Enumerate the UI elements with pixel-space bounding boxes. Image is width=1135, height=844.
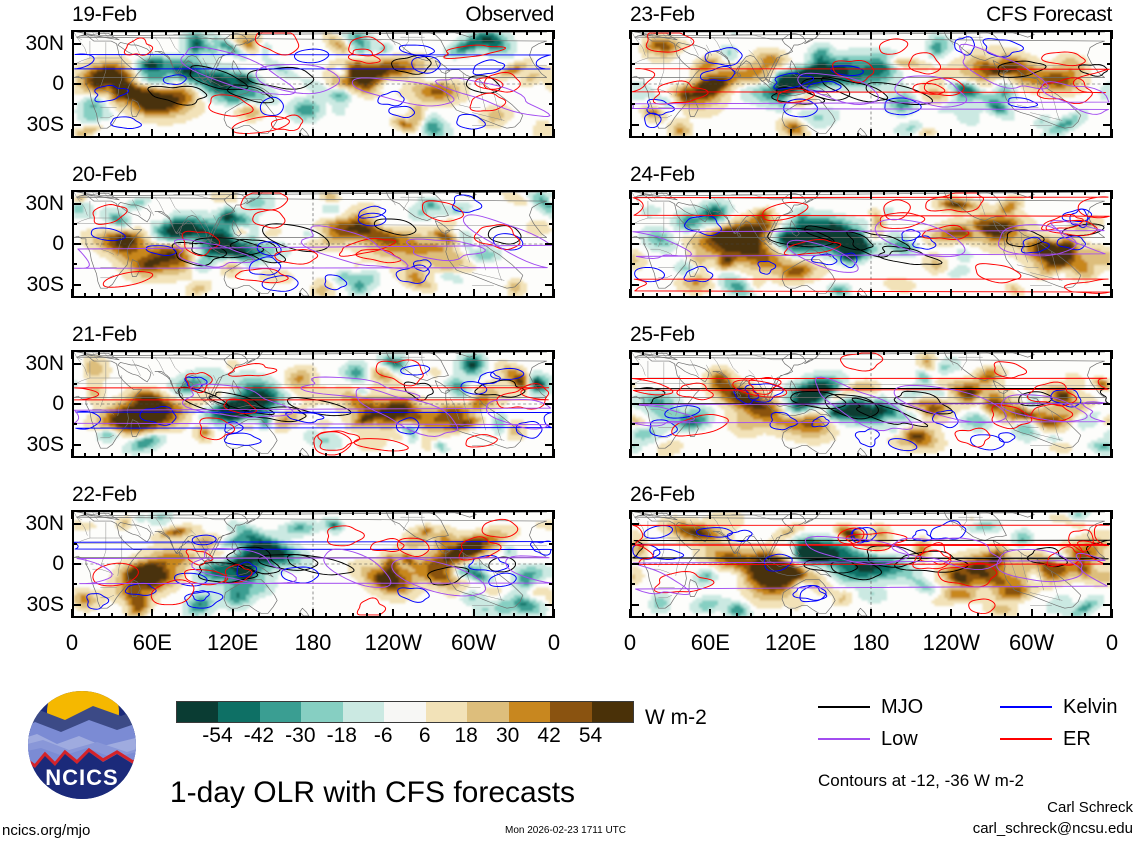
panel-24-feb: 24-Feb [630,164,1112,298]
x-tick [1084,453,1086,458]
x-tick [776,293,778,298]
x-tick [937,190,939,195]
y-tick [1103,444,1112,446]
x-tick [991,453,993,458]
x-tick [299,30,301,35]
x-tick [816,453,818,458]
x-tick [883,30,885,35]
x-tick [192,293,194,298]
y-tick [72,83,81,85]
x-tick [709,449,711,458]
x-tick [629,30,631,39]
colorbar-tick-label: -42 [244,725,274,746]
y-tick [72,124,81,126]
x-tick [843,453,845,458]
olr-anomaly-map [74,352,552,456]
y-tick [72,63,77,65]
x-tick [1057,350,1059,355]
x-tick [950,289,952,298]
x-tick [71,609,73,618]
y-tick [1103,403,1112,405]
x-tick [1111,289,1113,298]
contour-er [976,264,1021,283]
x-tick [285,453,287,458]
x-tick [803,133,805,138]
x-tick [830,453,832,458]
x-tick [763,350,765,355]
x-tick [513,613,515,618]
x-tick [513,453,515,458]
x-tick [392,449,394,458]
x-tick [419,190,421,195]
x-tick [138,453,140,458]
y-tick [72,403,81,405]
olr-anomaly-map [632,352,1110,456]
y-axis-label-30n: 30N [0,513,64,534]
x-tick [406,613,408,618]
x-tick [1098,133,1100,138]
x-tick [950,449,952,458]
x-tick [683,293,685,298]
panel-19-feb: 19-FebObserved [72,4,554,138]
x-tick [642,190,644,195]
x-tick [392,129,394,138]
panel-23-feb: 23-FebCFS Forecast [630,4,1112,138]
x-tick [165,613,167,618]
panel-date-label: 21-Feb [72,324,137,345]
x-tick [1071,30,1073,35]
x-tick [642,133,644,138]
x-tick [870,609,872,618]
colorbar-swatch [509,702,550,722]
x-tick [1017,510,1019,515]
x-tick [366,453,368,458]
x-tick [272,453,274,458]
x-tick [98,350,100,355]
x-tick [339,30,341,35]
x-tick [111,30,113,35]
x-tick [165,510,167,515]
y-tick [545,403,554,405]
x-tick [816,350,818,355]
olr-anomaly-map [74,192,552,296]
y-tick [72,43,81,45]
x-tick [897,30,899,35]
x-tick [218,293,220,298]
x-tick [1057,613,1059,618]
x-tick [111,190,113,195]
x-tick [897,133,899,138]
x-axis-label: 180 [853,632,890,654]
x-tick [406,133,408,138]
x-tick [272,293,274,298]
x-tick [339,293,341,298]
x-tick [299,613,301,618]
x-tick [991,350,993,355]
y-axis-label-30n: 30N [0,193,64,214]
x-tick [1084,510,1086,515]
x-tick [1057,190,1059,195]
x-tick [656,613,658,618]
x-tick [285,30,287,35]
x-tick [803,293,805,298]
x-tick [669,510,671,515]
x-tick [553,510,555,519]
x-tick [218,453,220,458]
colorbar-tick-label: -18 [327,725,357,746]
x-tick [84,350,86,355]
x-tick [258,30,260,35]
y-tick [630,604,639,606]
x-tick [339,350,341,355]
x-tick [709,190,711,199]
colorbar-swatch [426,702,467,722]
x-tick [71,449,73,458]
legend-label: ER [1063,729,1091,749]
x-tick [1004,190,1006,195]
x-tick [406,510,408,515]
x-tick [816,613,818,618]
x-tick [1017,190,1019,195]
x-tick [696,190,698,195]
x-tick [392,30,394,39]
x-tick [723,613,725,618]
x-tick [683,190,685,195]
x-tick [98,510,100,515]
x-tick [750,453,752,458]
x-tick [1084,190,1086,195]
y-tick [630,43,639,45]
x-tick [192,133,194,138]
y-tick [1103,284,1112,286]
x-tick [526,30,528,35]
x-tick [642,613,644,618]
x-tick [540,510,542,515]
x-tick [285,613,287,618]
y-tick [549,383,554,385]
x-tick [299,190,301,195]
legend-item-mjo: MJO [818,697,923,717]
x-tick [419,510,421,515]
x-tick [1084,613,1086,618]
x-tick [232,449,234,458]
x-tick [178,133,180,138]
x-tick [1098,30,1100,35]
x-tick [232,190,234,199]
y-tick [545,284,554,286]
x-tick [1031,30,1033,39]
x-tick [192,453,194,458]
x-tick [446,30,448,35]
colorbar-swatch [218,702,259,722]
panel-21-feb: 21-Feb [72,324,554,458]
y-tick [1107,383,1112,385]
map-frame [630,510,1112,618]
x-tick [205,613,207,618]
colorbar-tick-label: -30 [285,725,315,746]
x-tick [683,510,685,515]
x-tick [352,350,354,355]
y-axis-label-30s: 30S [0,114,64,135]
y-tick [72,423,77,425]
x-tick [84,453,86,458]
x-tick [857,133,859,138]
x-tick [897,190,899,195]
x-tick [870,129,872,138]
y-tick [72,203,81,205]
x-tick [870,449,872,458]
y-tick [549,543,554,545]
x-tick [165,350,167,355]
x-tick [763,613,765,618]
x-tick [1098,510,1100,515]
y-tick [1103,83,1112,85]
column-kind-label: CFS Forecast [986,4,1112,25]
x-tick [419,350,421,355]
x-tick [669,190,671,195]
x-tick [669,613,671,618]
x-tick [683,350,685,355]
x-tick [125,30,127,35]
x-tick [366,613,368,618]
site-url[interactable]: ncics.org/mjo [2,823,90,838]
legend-item-low: Low [818,729,918,749]
panel-26-feb: 26-Feb [630,484,1112,618]
column-kind-label: Observed [465,4,554,25]
map-frame [72,510,554,618]
x-tick [790,30,792,39]
x-tick [151,289,153,298]
contour-kelvin [225,433,262,445]
x-tick [245,350,247,355]
x-tick [513,510,515,515]
x-tick [1017,133,1019,138]
x-tick [98,190,100,195]
x-tick [1098,293,1100,298]
x-tick [790,449,792,458]
x-tick [232,510,234,519]
x-tick [299,293,301,298]
y-tick [545,43,554,45]
x-tick [1111,449,1113,458]
x-tick [232,609,234,618]
x-tick [352,133,354,138]
x-tick [1111,30,1113,39]
y-tick [1107,263,1112,265]
x-tick [910,190,912,195]
x-tick [499,190,501,195]
x-tick [750,190,752,195]
y-tick [549,63,554,65]
x-tick [776,30,778,35]
colorbar-units-label: W m-2 [645,707,707,728]
x-tick [763,190,765,195]
x-tick [1111,129,1113,138]
x-tick [683,613,685,618]
x-tick [830,510,832,515]
x-tick [790,350,792,359]
x-tick [696,613,698,618]
x-tick [192,613,194,618]
x-tick [379,293,381,298]
x-tick [312,510,314,519]
x-tick [1017,30,1019,35]
x-tick [897,510,899,515]
panel-date-label: 23-Feb [630,4,695,25]
y-tick [545,124,554,126]
x-tick [629,190,631,199]
x-tick [111,133,113,138]
x-tick [459,133,461,138]
x-tick [71,350,73,359]
x-tick [723,453,725,458]
y-tick [1107,223,1112,225]
x-tick [696,453,698,458]
x-tick [245,510,247,515]
x-tick [379,30,381,35]
x-tick [803,453,805,458]
x-tick [339,613,341,618]
x-tick [218,133,220,138]
y-tick [545,444,554,446]
author-email[interactable]: carl_schreck@ncsu.edu [835,820,1133,838]
x-tick [245,453,247,458]
x-tick [656,510,658,515]
x-tick [776,133,778,138]
x-tick [84,510,86,515]
x-tick [125,510,127,515]
x-tick [473,609,475,618]
x-tick [218,613,220,618]
x-tick [138,350,140,355]
y-tick [630,383,635,385]
x-tick [553,609,555,618]
contour-er [840,353,882,371]
x-tick [991,30,993,35]
x-tick [950,510,952,519]
map-frame [72,30,554,138]
x-tick [419,613,421,618]
y-tick [630,444,639,446]
x-tick [138,510,140,515]
x-tick [178,453,180,458]
y-tick [630,423,635,425]
x-tick [125,613,127,618]
x-tick [1071,613,1073,618]
x-tick [709,609,711,618]
x-tick [736,350,738,355]
x-tick [803,613,805,618]
y-tick [545,563,554,565]
x-tick [125,190,127,195]
x-tick [843,133,845,138]
x-tick [977,613,979,618]
x-tick [857,453,859,458]
x-tick [446,613,448,618]
x-tick [526,510,528,515]
x-tick [84,30,86,35]
x-tick [629,609,631,618]
x-tick [312,350,314,359]
x-tick [151,350,153,359]
x-tick [352,293,354,298]
x-tick [526,613,528,618]
x-tick [669,350,671,355]
x-tick [125,133,127,138]
legend-line-swatch [818,738,870,740]
x-tick [499,30,501,35]
colorbar-tick-label: -6 [374,725,393,746]
x-tick [950,190,952,199]
x-tick [790,289,792,298]
x-tick [486,453,488,458]
x-tick [937,453,939,458]
x-tick [964,30,966,35]
x-tick [125,350,127,355]
x-tick [696,133,698,138]
x-tick [977,350,979,355]
y-tick [545,203,554,205]
x-tick [790,190,792,199]
x-tick [883,453,885,458]
colorbar-swatch [592,702,633,722]
y-axis-label-0: 0 [0,393,64,414]
x-tick [1031,449,1033,458]
x-tick [656,293,658,298]
x-tick [205,190,207,195]
x-tick [312,449,314,458]
x-tick [486,350,488,355]
x-tick [299,350,301,355]
colorbar-tick-label: 6 [419,725,431,746]
x-tick [446,293,448,298]
x-tick [642,510,644,515]
x-tick [669,453,671,458]
x-tick [1098,453,1100,458]
panel-20-feb: 20-Feb [72,164,554,298]
x-tick [165,133,167,138]
x-tick [669,293,671,298]
x-tick [683,30,685,35]
x-tick [325,510,327,515]
y-tick [72,604,81,606]
x-tick [830,30,832,35]
x-tick [553,30,555,39]
colorbar-swatch [343,702,384,722]
x-tick [950,129,952,138]
x-tick [1031,609,1033,618]
x-tick [84,133,86,138]
x-tick [540,133,542,138]
contour-kelvin [855,429,879,447]
x-tick [709,510,711,519]
x-tick [272,190,274,195]
y-tick [1103,203,1112,205]
x-tick [897,293,899,298]
legend-item-er: ER [1000,729,1091,749]
olr-anomaly-map [74,32,552,136]
x-tick [553,289,555,298]
x-tick [709,350,711,359]
panel-date-label: 26-Feb [630,484,695,505]
y-tick [72,223,77,225]
x-tick [830,350,832,355]
x-tick [473,129,475,138]
x-tick [937,293,939,298]
x-tick [540,293,542,298]
x-tick [816,293,818,298]
x-tick [816,510,818,515]
